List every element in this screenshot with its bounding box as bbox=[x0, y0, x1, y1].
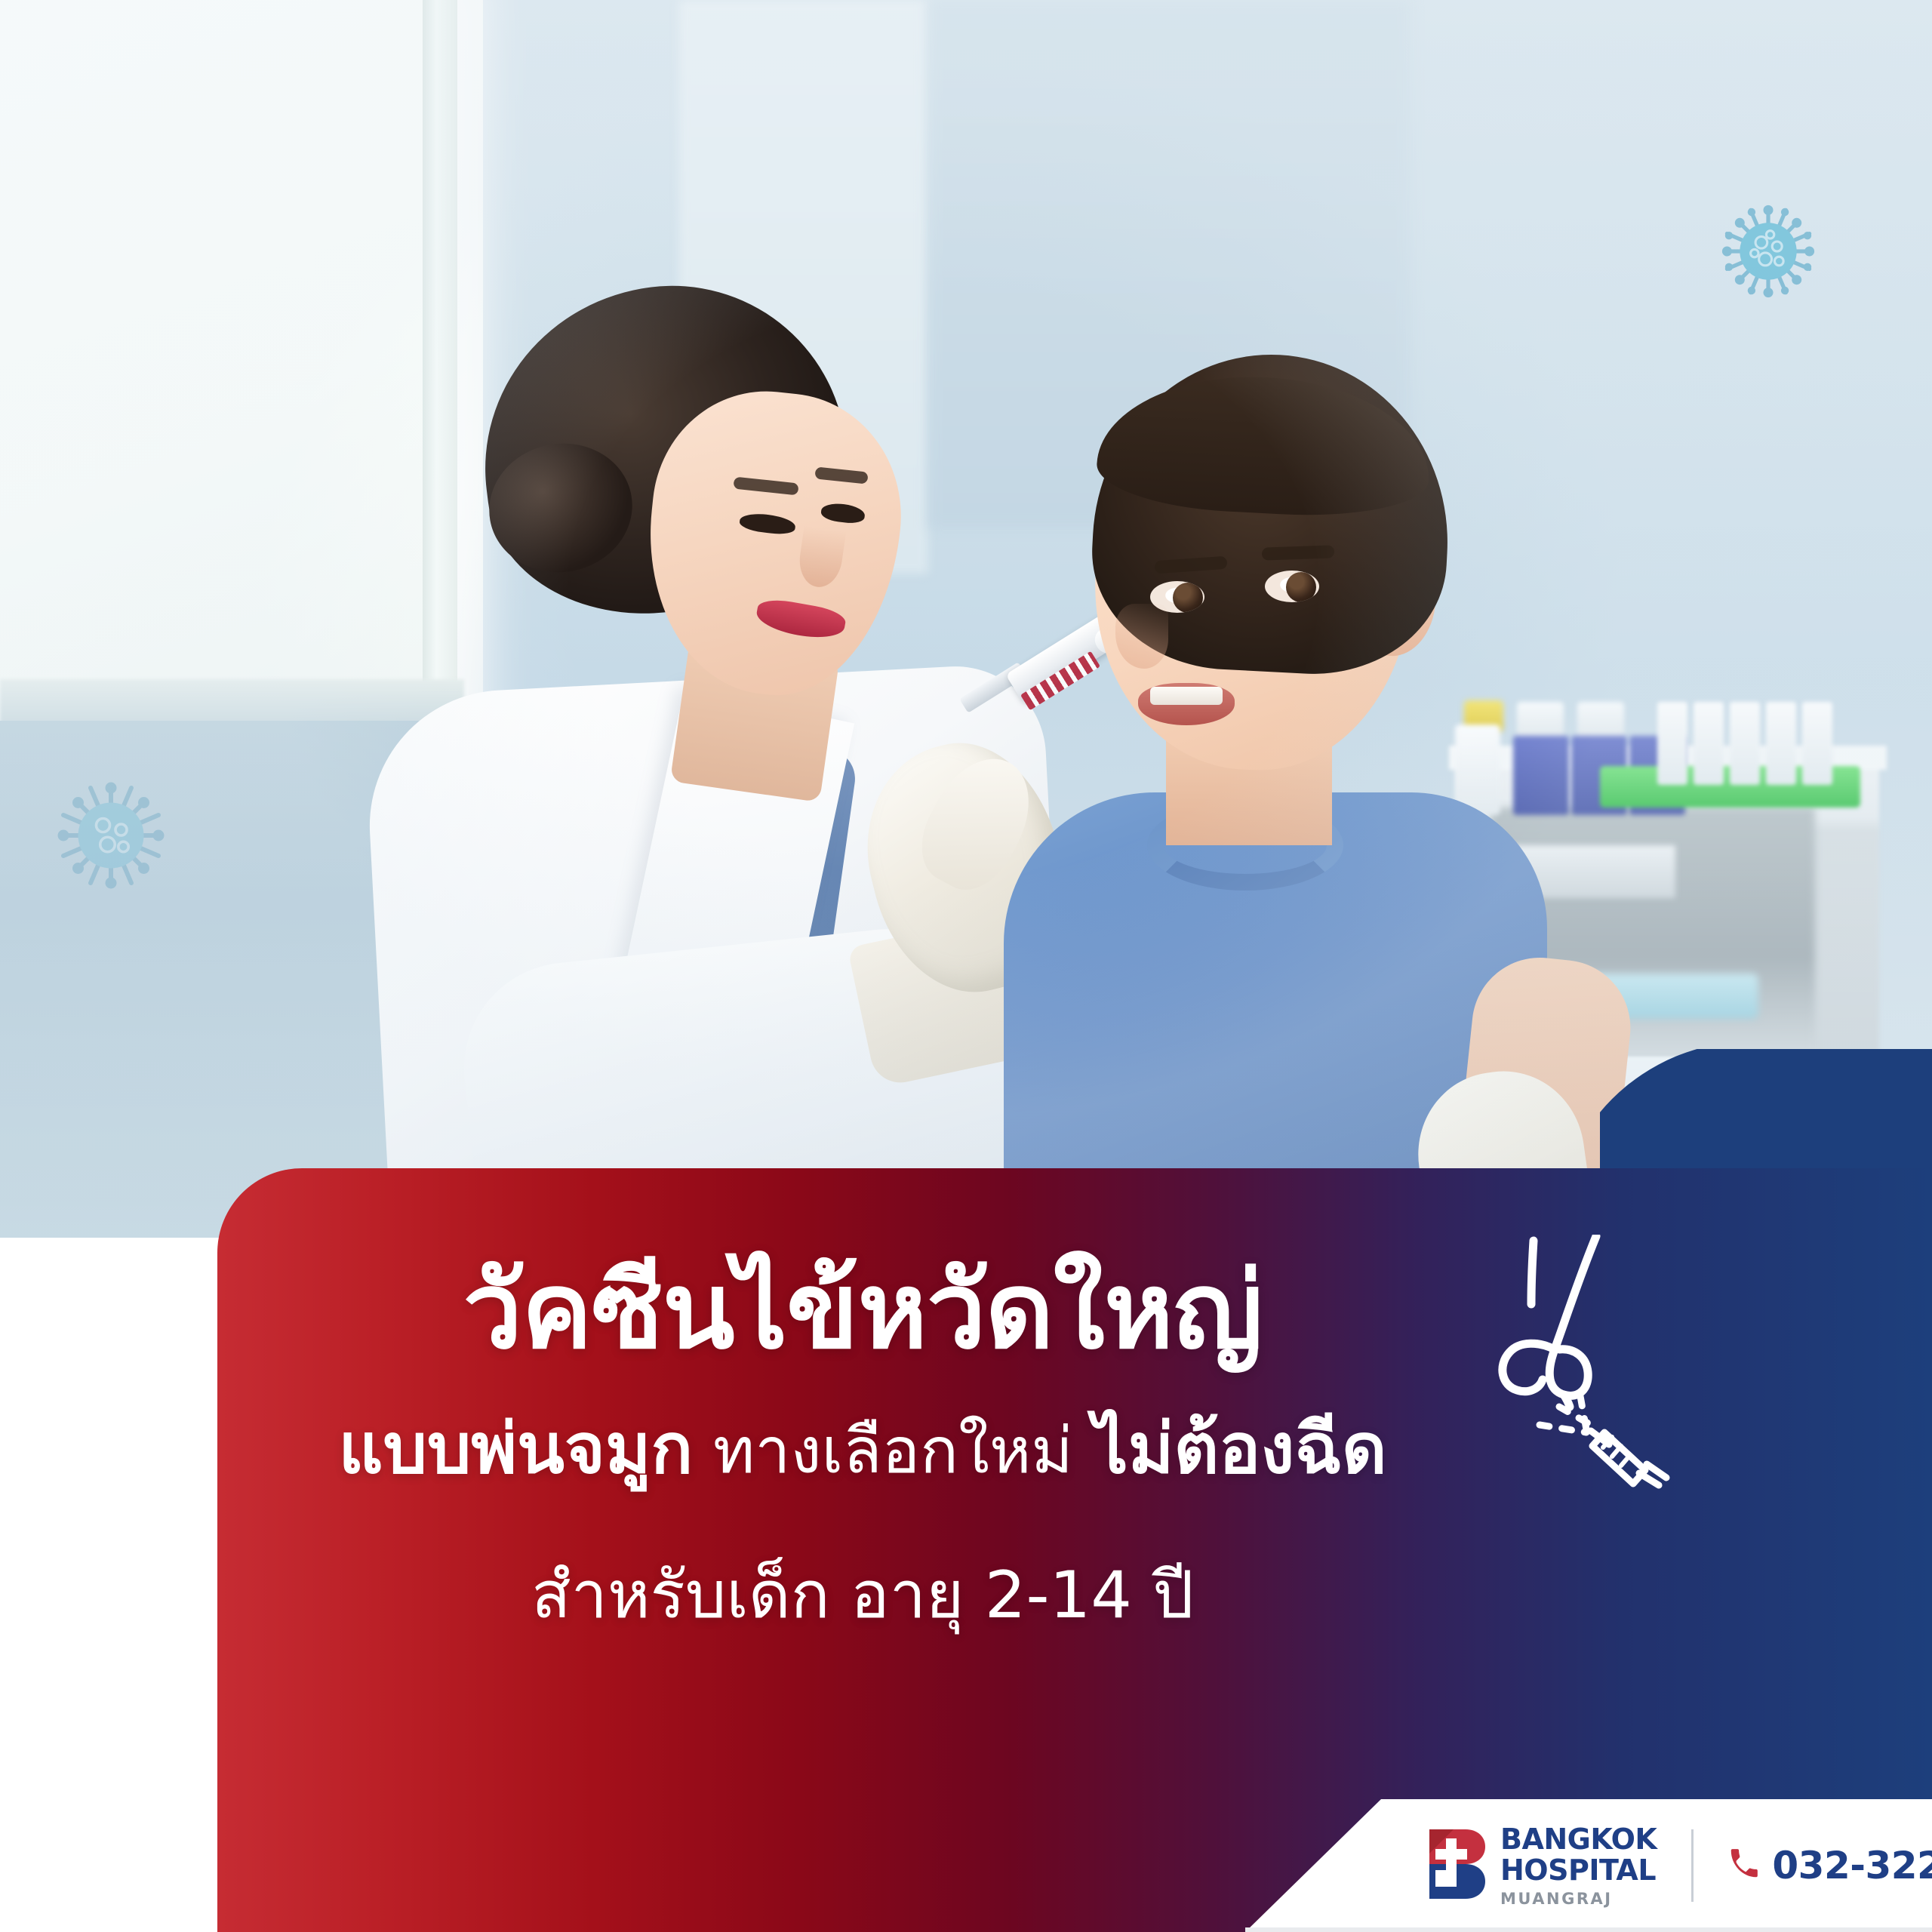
banner-subline-bold2: ไม่ต้องฉีด bbox=[1093, 1408, 1386, 1489]
hospital-logo: BANGKOK HOSPITAL MUANGRAJ bbox=[1426, 1825, 1657, 1907]
child-eye-far bbox=[1265, 571, 1319, 602]
contact-phone[interactable]: 032-322274-80 bbox=[1727, 1844, 1932, 1887]
child-pupil-far bbox=[1286, 572, 1316, 602]
window-frame bbox=[423, 0, 457, 724]
virus-particle-icon-top-right bbox=[1719, 202, 1817, 300]
tube-4 bbox=[1766, 702, 1796, 785]
nose-spray-icon bbox=[1419, 1235, 1690, 1491]
tube-3 bbox=[1730, 702, 1760, 785]
brand-line-2: HOSPITAL bbox=[1500, 1856, 1657, 1884]
brand-branch-name: MUANGRAJ bbox=[1500, 1891, 1657, 1907]
banner-subline: แบบพ่นจมูก ทางเลือกใหม่ ไม่ต้องฉีด bbox=[338, 1392, 1386, 1503]
footer-divider bbox=[1691, 1829, 1694, 1902]
child-teeth bbox=[1150, 687, 1223, 705]
blue-bottle-1 bbox=[1513, 736, 1569, 815]
banner-age-line: สำหรับเด็ก อายุ 2-14 ปี bbox=[531, 1543, 1194, 1646]
phone-icon bbox=[1727, 1847, 1761, 1884]
tube-1 bbox=[1657, 702, 1687, 785]
virus-particle-icon-left bbox=[54, 779, 168, 892]
child-pupil-near bbox=[1173, 583, 1203, 613]
advertisement-canvas: วัคซีนไข้หวัดใหญ่ แบบพ่นจมูก ทางเลือกใหม… bbox=[0, 0, 1932, 1932]
phone-number: 032-322274-80 bbox=[1772, 1844, 1932, 1887]
child-eyebrow-far bbox=[1262, 545, 1335, 560]
window-sill bbox=[0, 679, 464, 724]
brand-line-1: BANGKOK bbox=[1500, 1825, 1657, 1854]
footer-bottom-rule bbox=[1245, 1927, 1932, 1932]
banner-subline-bold: แบบพ่นจมูก bbox=[338, 1408, 693, 1489]
hospital-name-block: BANGKOK HOSPITAL MUANGRAJ bbox=[1500, 1825, 1657, 1907]
banner-subline-normal: ทางเลือกใหม่ bbox=[693, 1414, 1093, 1487]
banner-text-block: วัคซีนไข้หวัดใหญ่ แบบพ่นจมูก ทางเลือกใหม… bbox=[217, 1168, 1508, 1712]
tube-5 bbox=[1802, 702, 1832, 785]
tube-2 bbox=[1694, 702, 1724, 785]
banner-headline: วัคซีนไข้หวัดใหญ่ bbox=[463, 1257, 1263, 1367]
bangkok-hospital-logo-icon bbox=[1426, 1828, 1487, 1900]
window-pane bbox=[0, 0, 453, 717]
